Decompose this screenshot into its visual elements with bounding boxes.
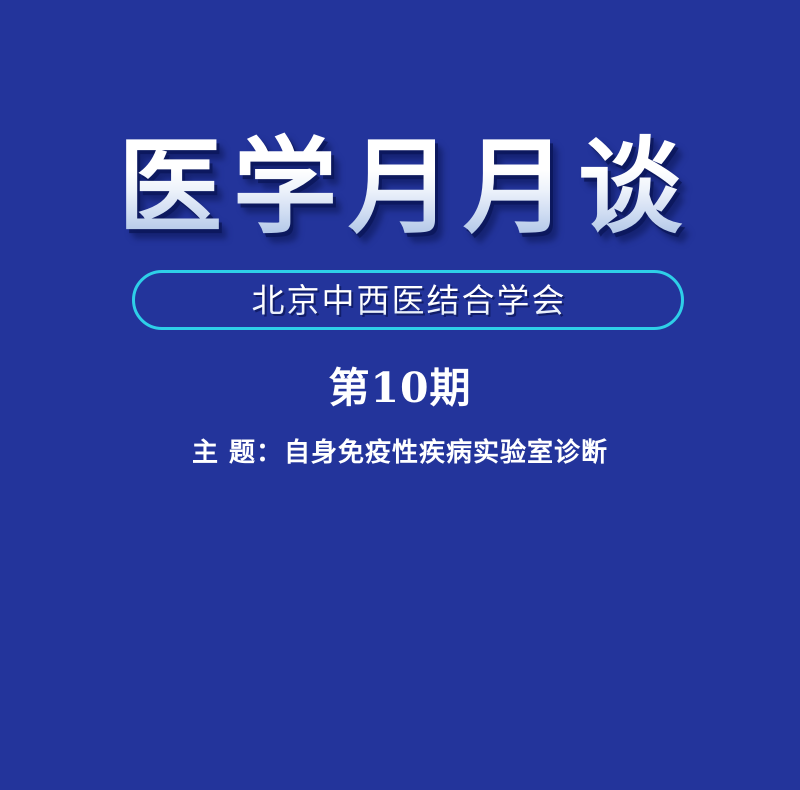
page-title: 医学月月谈 [107,132,693,242]
organization-name: 北京中西医结合学会 [250,284,567,317]
issue-number-label: 第10期 [0,366,800,411]
blank-content-area [0,490,800,790]
poster-canvas: 医学月月谈 北京中西医结合学会 第10期 主 题：自身免疫性疾病实验室诊断 [0,0,800,790]
organization-pill: 北京中西医结合学会 [132,270,684,330]
topic-label: 主 题： [192,438,283,468]
masthead: 医学月月谈 [0,132,800,242]
topic-line: 主 题：自身免疫性疾病实验室诊断 [0,438,800,469]
topic-value: 自身免疫性疾病实验室诊断 [284,438,608,468]
